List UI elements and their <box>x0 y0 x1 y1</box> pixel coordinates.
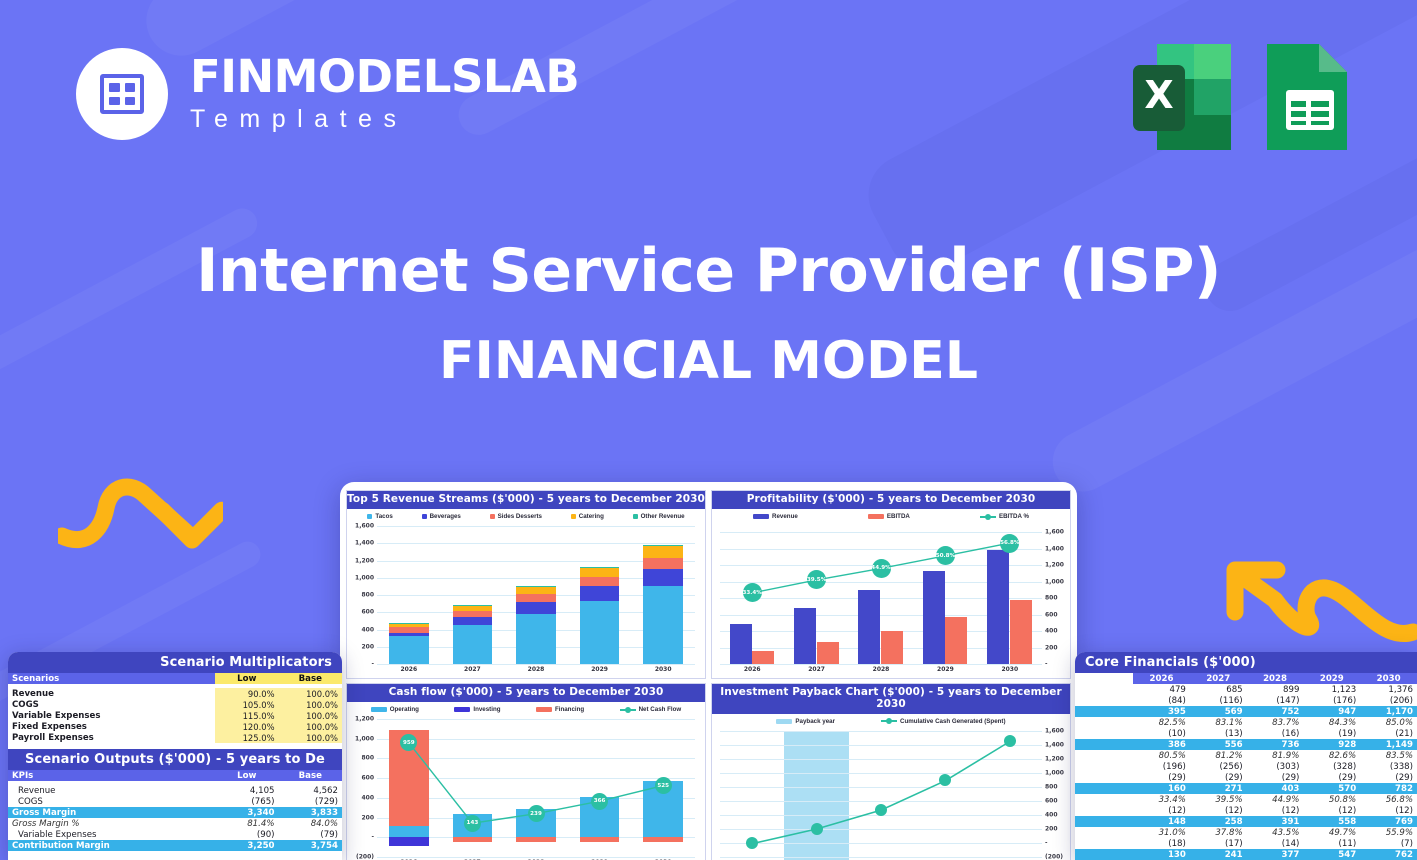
chart-plot-area: (200)-2004006008001,0001,200959143239366… <box>351 715 701 860</box>
cell: 241 <box>1190 849 1247 860</box>
table-row: Payroll Expenses125.0%100.0% <box>8 732 342 743</box>
gridline <box>720 773 1042 774</box>
cell: (116) <box>1190 695 1247 706</box>
cell: 556 <box>1190 739 1247 750</box>
gridline <box>720 731 1042 732</box>
cell: 83.5% <box>1360 750 1417 761</box>
data-point-label: 44.9% <box>872 559 891 578</box>
axis-tick-label: (200) <box>1045 853 1063 860</box>
cell: 148 <box>1133 816 1190 827</box>
legend-item: Operating <box>371 706 419 713</box>
legend-item: Revenue <box>753 513 798 520</box>
legend-item: EBITDA % <box>980 513 1029 520</box>
brand-name: FINMODELSLAB <box>190 54 579 99</box>
axis-tick-label: 600 <box>361 775 374 782</box>
bar-segment <box>643 545 682 558</box>
cell: 685 <box>1190 684 1247 695</box>
bar-segment <box>453 617 492 625</box>
cell: (12) <box>1190 805 1247 816</box>
axis-tick-label: 1,400 <box>355 540 374 547</box>
cell: 50.8% <box>1303 794 1360 805</box>
cell: 928 <box>1303 739 1360 750</box>
cell: 1,170 <box>1360 706 1417 717</box>
scenario-multiplicators-table: Scenarios Low Base Revenue90.0%100.0% CO… <box>8 673 342 743</box>
axis-tick-label: 2027 <box>453 666 492 673</box>
cell: 33.4% <box>1133 794 1190 805</box>
cell: 570 <box>1303 783 1360 794</box>
axis-tick-label: 2030 <box>643 666 682 673</box>
cell: 258 <box>1190 816 1247 827</box>
gridline <box>377 857 695 858</box>
title-line-1: Internet Service Provider (ISP) <box>0 238 1417 305</box>
bar-segment <box>580 601 619 664</box>
cell: 83.7% <box>1247 717 1304 728</box>
cell: 160 <box>1133 783 1190 794</box>
axis-tick-label: 1,000 <box>355 574 374 581</box>
legend-item: Sides Desserts <box>490 513 542 520</box>
dashboard-preview: Top 5 Revenue Streams ($'000) - 5 years … <box>340 482 1077 860</box>
cell: 547 <box>1303 849 1360 860</box>
data-point-label <box>746 837 758 849</box>
table-row: 4796858991,1231,376 <box>1075 684 1417 695</box>
svg-text:X: X <box>1144 73 1173 117</box>
col-2030: 2030 <box>1360 673 1417 684</box>
bar-segment <box>580 577 619 586</box>
brand-logo: FINMODELSLAB Templates <box>76 48 579 140</box>
cell: 82.6% <box>1303 750 1360 761</box>
axis-tick-label: 1,000 <box>1045 578 1064 585</box>
gridline <box>377 719 695 720</box>
bar-segment <box>516 602 555 614</box>
col-2026: 2026 <box>1133 673 1190 684</box>
bar <box>730 624 752 664</box>
axis-tick-label: 400 <box>1045 628 1058 635</box>
table-row: Gross Margin3,3403,833 <box>8 807 342 818</box>
data-point-label: 143 <box>464 815 481 832</box>
cell: 769 <box>1360 816 1417 827</box>
chart-legend: Operating Investing Financing Net Cash F… <box>347 702 705 715</box>
table-row: 33.4%39.5%44.9%50.8%56.8% <box>1075 794 1417 805</box>
cell: 31.0% <box>1133 827 1190 838</box>
cell: 558 <box>1303 816 1360 827</box>
cell: 569 <box>1190 706 1247 717</box>
scenario-outputs-table: KPIs Low Base Revenue4,1054,562 COGS(765… <box>8 770 342 851</box>
data-point-label: 366 <box>591 793 608 810</box>
brand-tagline: Templates <box>190 105 579 134</box>
cell: 44.9% <box>1247 794 1304 805</box>
bar-segment <box>453 611 492 617</box>
bar <box>858 590 880 664</box>
cell: 762 <box>1360 849 1417 860</box>
cell: 386 <box>1133 739 1190 750</box>
axis-tick-label: 1,400 <box>1045 741 1064 748</box>
bar-segment <box>389 623 428 627</box>
axis-tick-label: 2029 <box>580 666 619 673</box>
cell: (12) <box>1247 805 1304 816</box>
bar-segment <box>516 837 555 842</box>
cell: (328) <box>1303 761 1360 772</box>
axis-tick-label: 800 <box>361 592 374 599</box>
col-base: Base <box>279 770 342 781</box>
axis-tick-label: 2029 <box>923 666 968 673</box>
legend-item: Investing <box>454 706 500 713</box>
core-financials-sheet[interactable]: Core Financials ($'000) 2026 2027 2028 2… <box>1075 652 1417 860</box>
table-row: Fixed Expenses120.0%100.0% <box>8 721 342 732</box>
legend-item: Payback year <box>776 718 835 725</box>
axis-tick-label: 600 <box>1045 797 1058 804</box>
cell: 271 <box>1190 783 1247 794</box>
cell: (21) <box>1360 728 1417 739</box>
chart-title: Profitability ($'000) - 5 years to Decem… <box>712 491 1070 509</box>
legend-item: Net Cash Flow <box>620 706 682 713</box>
axis-tick-label: 1,200 <box>1045 755 1064 762</box>
data-point-label: 525 <box>655 777 672 794</box>
table-row: (196)(256)(303)(328)(338) <box>1075 761 1417 772</box>
cell: 947 <box>1303 706 1360 717</box>
bar <box>1010 600 1032 665</box>
col-low: Low <box>215 673 278 684</box>
cell: 1,123 <box>1303 684 1360 695</box>
cell: 82.5% <box>1133 717 1190 728</box>
chart-revenue-streams[interactable]: Top 5 Revenue Streams ($'000) - 5 years … <box>346 490 706 679</box>
data-point-label <box>875 804 887 816</box>
cell: 391 <box>1247 816 1304 827</box>
axis-tick-label: 2028 <box>858 666 903 673</box>
axis-tick-label: 200 <box>361 814 374 821</box>
legend-item: Financing <box>536 706 584 713</box>
bar-segment <box>643 545 682 546</box>
legend-item: Beverages <box>422 513 461 520</box>
legend-item: Cumulative Cash Generated (Spent) <box>881 718 1006 725</box>
table-row: Variable Expenses115.0%100.0% <box>8 710 342 721</box>
chart-title: Cash flow ($'000) - 5 years to December … <box>347 684 705 702</box>
sheet-title-multiplicators: Scenario Multiplicators <box>8 652 342 673</box>
col-low: Low <box>215 770 278 781</box>
curved-arrow-right-icon <box>58 452 223 567</box>
axis-tick-label: 600 <box>1045 611 1058 618</box>
chart-plot-area: -2004006008001,0001,2001,4001,60033.4%39… <box>716 522 1066 676</box>
col-kpis: KPIs <box>8 770 215 781</box>
format-icons: X <box>1129 38 1359 156</box>
bar-segment <box>643 837 682 842</box>
cell: (12) <box>1303 805 1360 816</box>
axis-tick-label: 1,000 <box>1045 769 1064 776</box>
legend-item: Tacos <box>367 513 392 520</box>
curved-arrow-left-icon <box>1197 548 1417 665</box>
cell: (12) <box>1360 805 1417 816</box>
axis-tick-label: - <box>1045 839 1048 846</box>
data-point-label <box>811 823 823 835</box>
cell: (176) <box>1303 695 1360 706</box>
axis-tick-label: 800 <box>1045 783 1058 790</box>
cell: (29) <box>1360 772 1417 783</box>
cell: (29) <box>1247 772 1304 783</box>
table-row: Variable Expenses(90)(79) <box>8 829 342 840</box>
cell: (10) <box>1133 728 1190 739</box>
axis-tick-label: 200 <box>361 643 374 650</box>
bar-segment <box>580 567 619 577</box>
cell: (17) <box>1190 838 1247 849</box>
axis-tick-label: 2026 <box>730 666 775 673</box>
axis-tick-label: 1,000 <box>355 735 374 742</box>
cell: 1,149 <box>1360 739 1417 750</box>
cell: (16) <box>1247 728 1304 739</box>
axis-tick-label: 1,200 <box>355 557 374 564</box>
gridline <box>720 801 1042 802</box>
axis-tick-label: - <box>372 661 375 668</box>
chart-plot-area: -2004006008001,0001,2001,4001,6002026202… <box>351 522 701 676</box>
cell: 403 <box>1247 783 1304 794</box>
gridline <box>720 745 1042 746</box>
cell: (84) <box>1133 695 1190 706</box>
bar <box>987 550 1009 664</box>
data-point-label: 33.4% <box>743 583 762 602</box>
cell: (29) <box>1190 772 1247 783</box>
bar-segment <box>389 633 428 636</box>
axis-tick-label: - <box>1045 661 1048 668</box>
cell: 85.0% <box>1360 717 1417 728</box>
bar-segment <box>516 594 555 602</box>
sheet-title-core-financials: Core Financials ($'000) <box>1075 652 1417 673</box>
axis-tick-label: 200 <box>1045 644 1058 651</box>
cell: 736 <box>1247 739 1304 750</box>
bar-segment <box>580 837 619 842</box>
cell: (303) <box>1247 761 1304 772</box>
cell: 43.5% <box>1247 827 1304 838</box>
table-row: 160271403570782 <box>1075 783 1417 794</box>
gridline <box>720 664 1042 665</box>
gridline <box>720 857 1042 858</box>
gridline <box>720 843 1042 844</box>
data-point-label: 56.8% <box>1000 534 1019 553</box>
table-row: (12)(12)(12)(12)(12) <box>1075 805 1417 816</box>
table-row: COGS(765)(729) <box>8 796 342 807</box>
axis-tick-label: - <box>372 834 375 841</box>
table-row: (84)(116)(147)(176)(206) <box>1075 695 1417 706</box>
legend-item: EBITDA <box>868 513 910 520</box>
bar-segment <box>580 586 619 601</box>
axis-tick-label: 1,200 <box>355 716 374 723</box>
cell: 377 <box>1247 849 1304 860</box>
table-row: 3865567369281,149 <box>1075 739 1417 750</box>
bar <box>923 571 945 664</box>
table-row: COGS105.0%100.0% <box>8 699 342 710</box>
bar-segment <box>516 586 555 594</box>
table-row: Contribution Margin3,2503,754 <box>8 840 342 851</box>
axis-tick-label: 1,400 <box>1045 545 1064 552</box>
bar-segment <box>643 586 682 664</box>
col-base: Base <box>279 673 342 684</box>
axis-tick-label: 2030 <box>987 666 1032 673</box>
grid-squares-icon <box>76 48 168 140</box>
table-header-row: 2026 2027 2028 2029 2030 <box>1075 673 1417 684</box>
bar-segment <box>389 837 428 846</box>
cell: 130 <box>1133 849 1190 860</box>
gridline <box>720 532 1042 533</box>
axis-tick-label: 800 <box>361 755 374 762</box>
page-title: Internet Service Provider (ISP) FINANCIA… <box>0 238 1417 390</box>
table-row: 3955697529471,170 <box>1075 706 1417 717</box>
cell: 49.7% <box>1303 827 1360 838</box>
legend-item: Other Revenue <box>633 513 685 520</box>
title-line-2: FINANCIAL MODEL <box>0 333 1417 390</box>
table-row: 148258391558769 <box>1075 816 1417 827</box>
bar-segment <box>643 558 682 569</box>
bar <box>817 642 839 664</box>
cell: (29) <box>1303 772 1360 783</box>
cell: (196) <box>1133 761 1190 772</box>
cell: 81.9% <box>1247 750 1304 761</box>
bar-segment <box>643 569 682 586</box>
gridline <box>720 787 1042 788</box>
cell: 899 <box>1247 684 1304 695</box>
chart-legend: Revenue EBITDA EBITDA % <box>712 509 1070 522</box>
table-row: Gross Margin %81.4%84.0% <box>8 818 342 829</box>
axis-tick-label: 2027 <box>794 666 839 673</box>
cell: 1,376 <box>1360 684 1417 695</box>
axis-tick-label: 600 <box>361 609 374 616</box>
bar-segment <box>389 826 428 837</box>
poster-canvas: FINMODELSLAB Templates X <box>0 0 1417 860</box>
table-row: (29)(29)(29)(29)(29) <box>1075 772 1417 783</box>
axis-tick-label: 1,600 <box>1045 529 1064 536</box>
gridline <box>720 549 1042 550</box>
gridline <box>377 526 695 527</box>
table-row: 31.0%37.8%43.5%49.7%55.9% <box>1075 827 1417 838</box>
chart-legend: Tacos Beverages Sides Desserts Catering … <box>347 509 705 522</box>
axis-tick-label: 200 <box>1045 825 1058 832</box>
chart-plot-area: (200)-2004006008001,0001,2001,4001,600 <box>716 727 1066 860</box>
axis-tick-label: 2026 <box>389 666 428 673</box>
chart-investment-payback[interactable]: Investment Payback Chart ($'000) - 5 yea… <box>711 683 1071 860</box>
bar-segment <box>453 605 492 611</box>
cell: (7) <box>1360 838 1417 849</box>
table-row: 82.5%83.1%83.7%84.3%85.0% <box>1075 717 1417 728</box>
bar-segment <box>453 625 492 664</box>
cell: (14) <box>1247 838 1304 849</box>
cell: 83.1% <box>1190 717 1247 728</box>
table-header-row: KPIs Low Base <box>8 770 342 781</box>
cell: 81.2% <box>1190 750 1247 761</box>
cell: 39.5% <box>1190 794 1247 805</box>
cell: (18) <box>1133 838 1190 849</box>
axis-tick-label: 400 <box>361 794 374 801</box>
chart-profitability[interactable]: Profitability ($'000) - 5 years to Decem… <box>711 490 1071 679</box>
cell: 80.5% <box>1133 750 1190 761</box>
cell: (19) <box>1303 728 1360 739</box>
bar-segment <box>389 636 428 664</box>
cell: (256) <box>1190 761 1247 772</box>
table-row: Revenue4,1054,562 <box>8 785 342 796</box>
data-point-label: 239 <box>528 805 545 822</box>
data-point-label: 50.8% <box>936 546 955 565</box>
cell: 84.3% <box>1303 717 1360 728</box>
bar <box>945 617 967 664</box>
cell: 479 <box>1133 684 1190 695</box>
table-row: Revenue90.0%100.0% <box>8 688 342 699</box>
cell: 56.8% <box>1360 794 1417 805</box>
table-row: (10)(13)(16)(19)(21) <box>1075 728 1417 739</box>
cell: (147) <box>1247 695 1304 706</box>
axis-tick-label: 1,600 <box>1045 727 1064 734</box>
cell: 782 <box>1360 783 1417 794</box>
cell: (338) <box>1360 761 1417 772</box>
axis-tick-label: 1,600 <box>355 523 374 530</box>
axis-tick-label: 400 <box>361 626 374 633</box>
data-point-label: 39.5% <box>807 570 826 589</box>
col-scenarios: Scenarios <box>8 673 215 684</box>
chart-legend: Payback year Cumulative Cash Generated (… <box>712 714 1070 727</box>
sheet-title-outputs: Scenario Outputs ($'000) - 5 years to De <box>8 749 342 770</box>
cell: (13) <box>1190 728 1247 739</box>
bar <box>881 631 903 664</box>
cell: 55.9% <box>1360 827 1417 838</box>
gridline <box>377 664 695 665</box>
gridline <box>720 829 1042 830</box>
table-row: 130241377547762 <box>1075 849 1417 860</box>
google-sheets-icon <box>1253 38 1359 156</box>
table-row: (18)(17)(14)(11)(7) <box>1075 838 1417 849</box>
payback-year-band <box>784 731 848 860</box>
bar <box>752 651 774 664</box>
axis-tick-label: 2028 <box>516 666 555 673</box>
axis-tick-label: (200) <box>356 854 374 860</box>
axis-tick-label: 1,200 <box>1045 562 1064 569</box>
data-point-label <box>939 774 951 786</box>
chart-title: Investment Payback Chart ($'000) - 5 yea… <box>712 684 1070 714</box>
series-line <box>716 727 1066 860</box>
cell: (11) <box>1303 838 1360 849</box>
axis-tick-label: 400 <box>1045 811 1058 818</box>
bar-segment <box>516 614 555 664</box>
data-point-label <box>1004 735 1016 747</box>
scenario-sheet[interactable]: Scenario Multiplicators Scenarios Low Ba… <box>8 652 342 860</box>
cell: 37.8% <box>1190 827 1247 838</box>
gridline <box>720 759 1042 760</box>
table-header-row: Scenarios Low Base <box>8 673 342 684</box>
col-2027: 2027 <box>1190 673 1247 684</box>
cell: 395 <box>1133 706 1190 717</box>
cell: (12) <box>1133 805 1190 816</box>
cell: (29) <box>1133 772 1190 783</box>
chart-title: Top 5 Revenue Streams ($'000) - 5 years … <box>347 491 705 509</box>
cell: 752 <box>1247 706 1304 717</box>
chart-cash-flow[interactable]: Cash flow ($'000) - 5 years to December … <box>346 683 706 860</box>
legend-item: Catering <box>571 513 604 520</box>
bar-segment <box>453 837 492 842</box>
table-row: 80.5%81.2%81.9%82.6%83.5% <box>1075 750 1417 761</box>
col-2029: 2029 <box>1303 673 1360 684</box>
col-2028: 2028 <box>1247 673 1304 684</box>
cell: (206) <box>1360 695 1417 706</box>
bar-segment <box>389 627 428 633</box>
core-financials-table: 2026 2027 2028 2029 2030 4796858991,1231… <box>1075 673 1417 860</box>
microsoft-excel-icon: X <box>1129 38 1235 156</box>
bar <box>794 608 816 665</box>
axis-tick-label: 800 <box>1045 595 1058 602</box>
